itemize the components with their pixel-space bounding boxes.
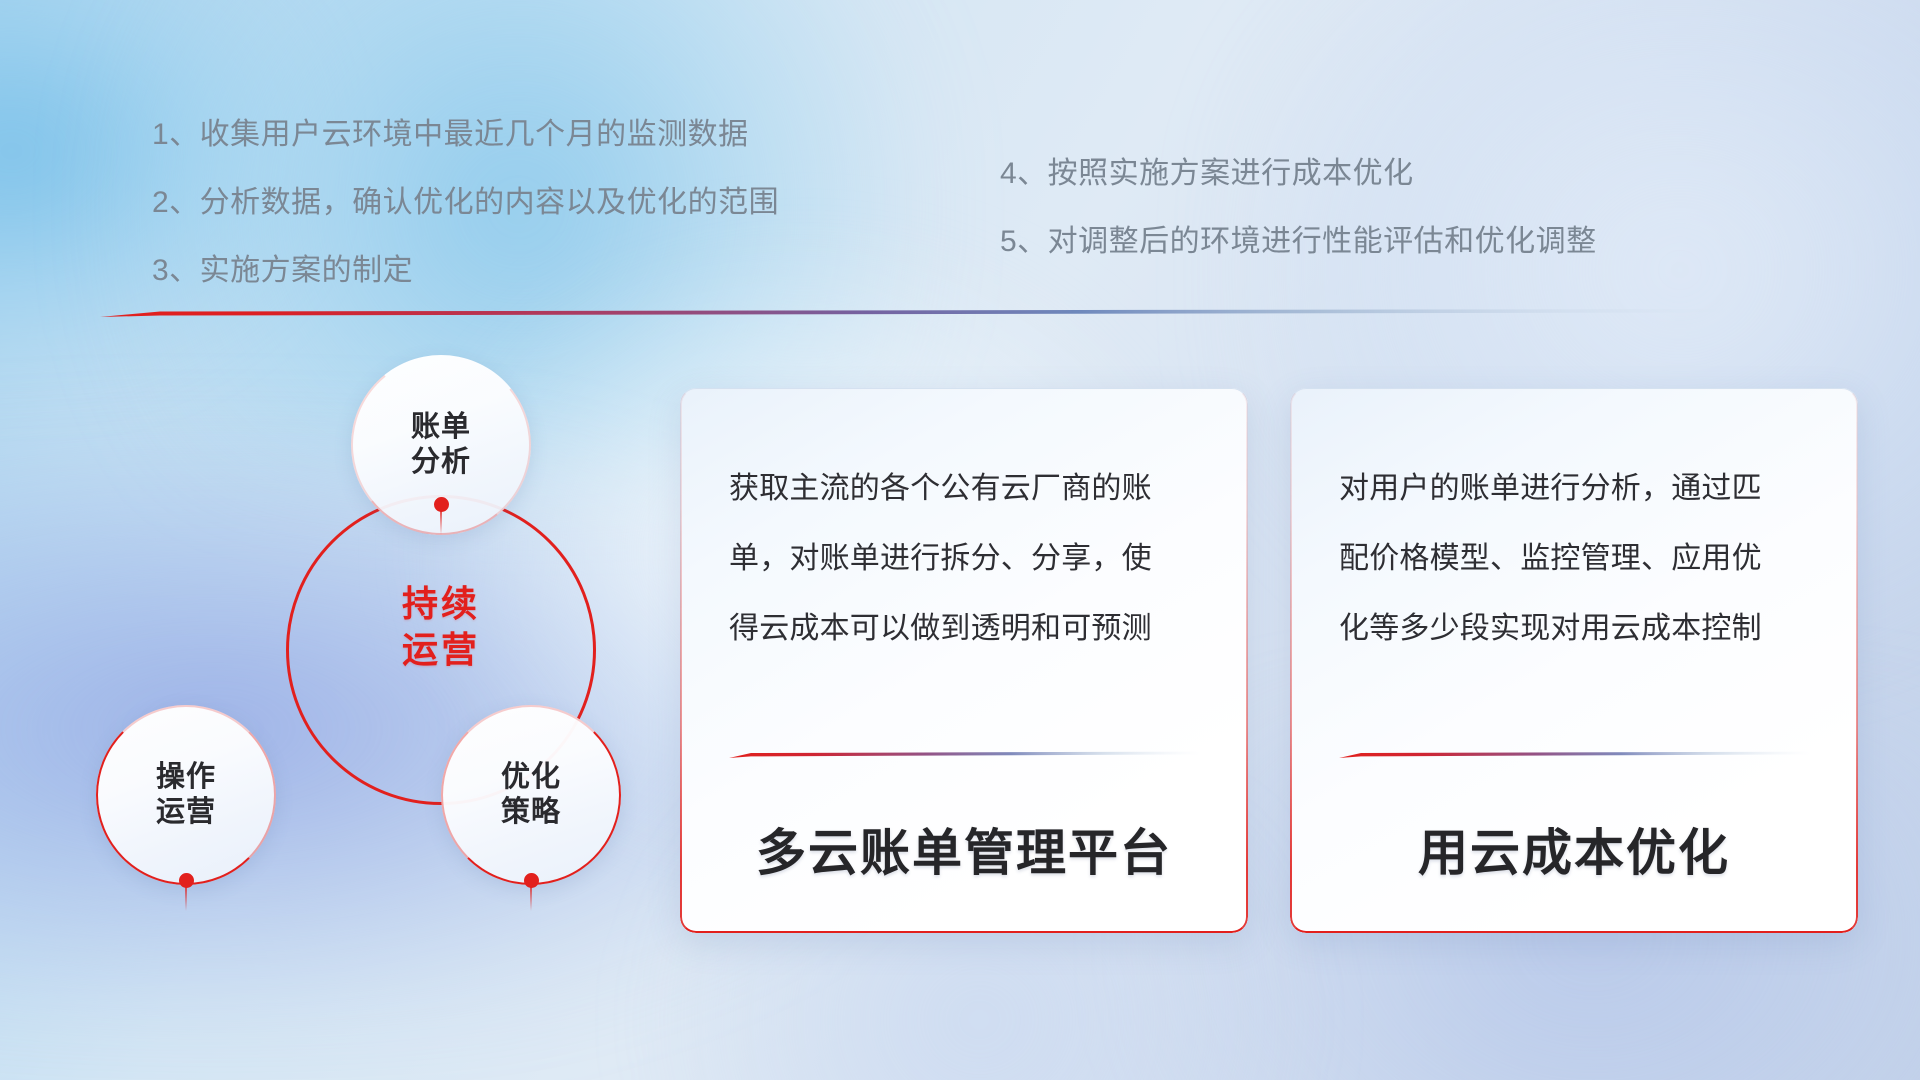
step-item-3: 3、实施方案的制定 (152, 256, 779, 286)
card-1-title: 多云账单管理平台 (680, 813, 1248, 885)
card-1-accent-rule (729, 746, 1199, 755)
step-item-4: 4、按照实施方案进行成本优化 (1000, 159, 1597, 189)
center-label-line-1: 持续 (351, 581, 531, 627)
card-2-description: 对用户的账单进行分析，通过匹 配价格模型、监控管理、应用优 化等多少段实现对用云… (1339, 474, 1809, 644)
node-marker-dot-top (434, 497, 449, 512)
node-marker-tail-left (185, 885, 187, 911)
card-1-description: 获取主流的各个公有云厂商的账 单，对账单进行拆分、分享，使 得云成本可以做到透明… (729, 474, 1199, 644)
node-left-line-1: 操作 (156, 760, 216, 795)
steps-list-left: 1、收集用户云环境中最近几个月的监测数据 2、分析数据，确认优化的内容以及优化的… (152, 120, 779, 286)
feature-card-multi-cloud-billing[interactable]: 获取主流的各个公有云厂商的账 单，对账单进行拆分、分享，使 得云成本可以做到透明… (680, 388, 1248, 933)
card-1-desc-line-2: 单，对账单进行拆分、分享，使 (729, 544, 1199, 574)
node-top-line-2: 分析 (411, 445, 471, 480)
card-2-desc-line-2: 配价格模型、监控管理、应用优 (1339, 544, 1809, 574)
step-item-2: 2、分析数据，确认优化的内容以及优化的范围 (152, 188, 779, 218)
card-2-desc-line-1: 对用户的账单进行分析，通过匹 (1339, 474, 1809, 504)
step-item-1: 1、收集用户云环境中最近几个月的监测数据 (152, 120, 779, 150)
node-left-line-2: 运营 (156, 795, 216, 830)
steps-list-right: 4、按照实施方案进行成本优化 5、对调整后的环境进行性能评估和优化调整 (1000, 159, 1597, 257)
card-1-rule-svg (729, 750, 1199, 759)
card-2-title: 用云成本优化 (1290, 813, 1858, 885)
node-right-line-1: 优化 (501, 760, 561, 795)
node-marker-tail-top (440, 509, 442, 535)
diagram-node-optimization-strategy[interactable]: 优化 策略 (441, 705, 621, 885)
node-right-line-2: 策略 (501, 795, 561, 830)
continuous-operation-diagram: 持续 运营 账单 分析 操作 运营 优化 策略 (96, 355, 636, 965)
center-label-line-2: 运营 (351, 627, 531, 673)
node-marker-dot-left (179, 873, 194, 888)
card-2-accent-rule (1339, 746, 1809, 755)
diagram-node-operation[interactable]: 操作 运营 (96, 705, 276, 885)
diagram-center-label: 持续 运营 (351, 581, 531, 673)
node-top-line-1: 账单 (411, 410, 471, 445)
feature-card-cloud-cost-optimization[interactable]: 对用户的账单进行分析，通过匹 配价格模型、监控管理、应用优 化等多少段实现对用云… (1290, 388, 1858, 933)
card-2-desc-line-3: 化等多少段实现对用云成本控制 (1339, 614, 1809, 644)
node-marker-dot-right (524, 873, 539, 888)
section-divider (100, 306, 1730, 320)
node-marker-tail-right (530, 885, 532, 911)
divider-svg (100, 306, 1730, 320)
card-2-rule-svg (1339, 750, 1809, 759)
card-1-desc-line-3: 得云成本可以做到透明和可预测 (729, 614, 1199, 644)
step-item-5: 5、对调整后的环境进行性能评估和优化调整 (1000, 227, 1597, 257)
card-1-desc-line-1: 获取主流的各个公有云厂商的账 (729, 474, 1199, 504)
